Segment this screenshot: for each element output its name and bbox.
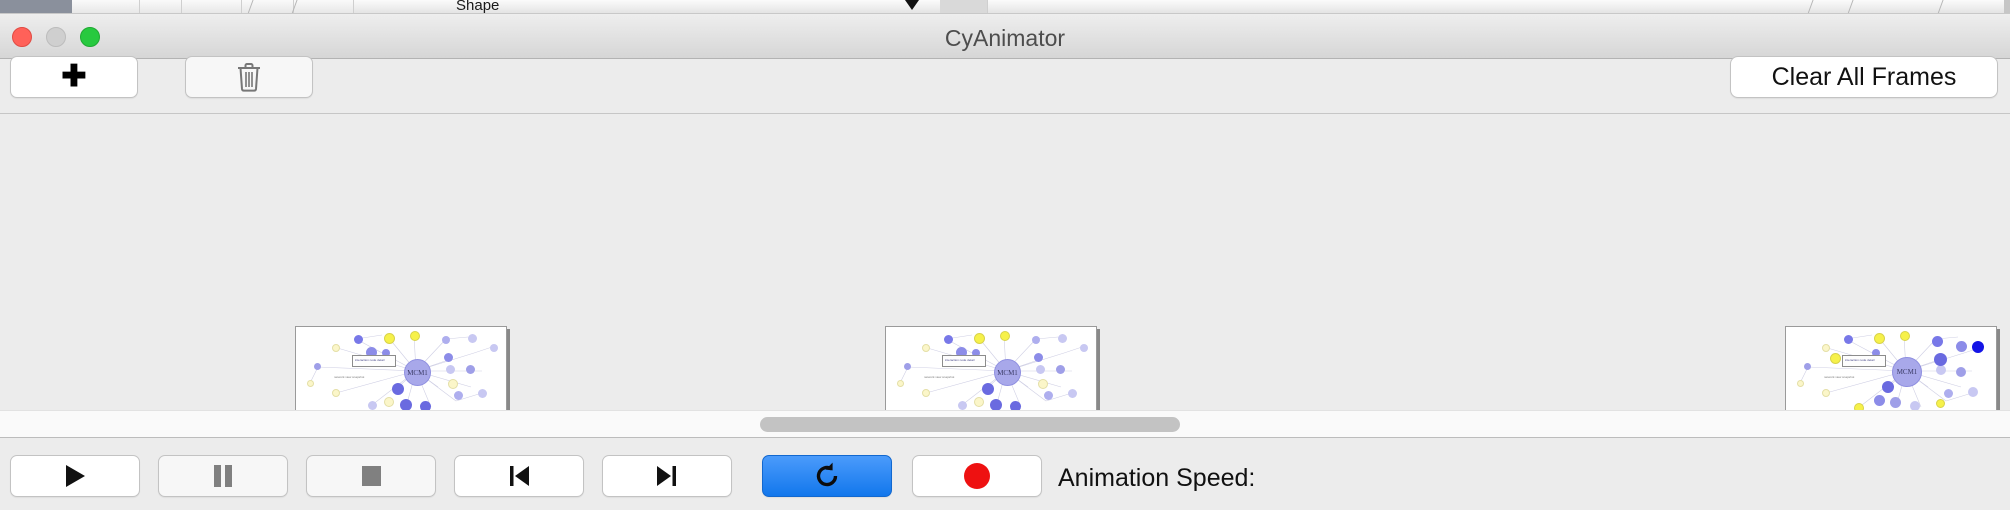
- timeline-scrollbar[interactable]: [0, 410, 2010, 438]
- timeline-panel[interactable]: network view snapshot interaction node d…: [0, 114, 2010, 410]
- skip-to-start-button[interactable]: [454, 455, 584, 497]
- trash-icon: [236, 62, 262, 92]
- skip-to-start-icon: [506, 462, 532, 490]
- timeline-frame-2[interactable]: network view snapshot interaction node d…: [885, 326, 1097, 410]
- window-title: CyAnimator: [0, 25, 2010, 52]
- stop-icon: [358, 462, 384, 490]
- delete-frame-button[interactable]: [185, 56, 313, 98]
- background-app-strip: Shape: [0, 0, 2010, 14]
- player-controls-bar: Animation Speed:: [0, 439, 2010, 510]
- node-tooltip: interaction node detail: [1842, 355, 1886, 367]
- background-app-label: Shape: [456, 0, 499, 14]
- pause-icon: [210, 462, 236, 490]
- node-tooltip: interaction node detail: [942, 355, 986, 367]
- skip-to-end-icon: [654, 462, 680, 490]
- loop-icon: [812, 461, 842, 491]
- network-thumbnail: network view snapshot interaction node d…: [1786, 327, 1996, 410]
- hub-node-label: MCM1: [404, 359, 431, 386]
- network-thumbnail: network view snapshot interaction node d…: [886, 327, 1096, 410]
- network-thumbnail: network view snapshot interaction node d…: [296, 327, 506, 410]
- node-tooltip: interaction node detail: [352, 355, 396, 367]
- title-bar: CyAnimator: [0, 14, 2010, 59]
- cyanimator-window: Shape CyAnimator ✚ Clear All Frames: [0, 0, 2010, 510]
- skip-to-end-button[interactable]: [602, 455, 732, 497]
- loop-button[interactable]: [762, 455, 892, 497]
- animation-speed-label: Animation Speed:: [1058, 464, 1255, 493]
- frame-caption: network view snapshot: [334, 375, 364, 379]
- plus-icon: ✚: [61, 62, 86, 92]
- stop-button[interactable]: [306, 455, 436, 497]
- play-icon: [62, 462, 88, 490]
- timeline-scrollbar-thumb[interactable]: [760, 417, 1180, 432]
- add-frame-button[interactable]: ✚: [10, 56, 138, 98]
- timeline-frame-1[interactable]: network view snapshot interaction node d…: [295, 326, 507, 410]
- hub-node-label: MCM1: [994, 359, 1021, 386]
- play-button[interactable]: [10, 455, 140, 497]
- frame-caption: network view snapshot: [1824, 375, 1854, 379]
- record-button[interactable]: [912, 455, 1042, 497]
- clear-all-frames-label: Clear All Frames: [1772, 63, 1957, 92]
- clear-all-frames-button[interactable]: Clear All Frames: [1730, 56, 1998, 98]
- background-scrollbar: [2004, 0, 2010, 14]
- pause-button[interactable]: [158, 455, 288, 497]
- hub-node-label: MCM1: [1892, 357, 1922, 387]
- frame-caption: network view snapshot: [924, 375, 954, 379]
- background-marker-icon: [905, 0, 919, 10]
- timeline-frame-3[interactable]: network view snapshot interaction node d…: [1785, 326, 1997, 410]
- record-icon: [964, 463, 990, 489]
